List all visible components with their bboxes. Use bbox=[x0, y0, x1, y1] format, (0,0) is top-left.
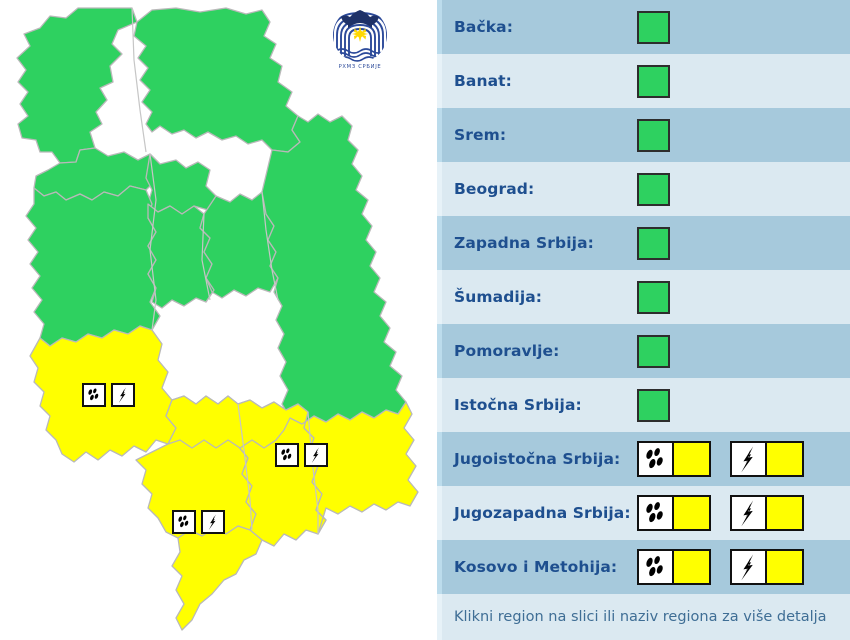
region-status bbox=[637, 324, 670, 378]
row-edge-strip bbox=[437, 0, 442, 54]
region-row[interactable]: Jugoistočna Srbija: bbox=[437, 432, 850, 486]
region-status bbox=[637, 0, 670, 54]
row-edge-strip bbox=[437, 432, 442, 486]
region-label[interactable]: Jugozapadna Srbija: bbox=[454, 504, 631, 522]
region-status bbox=[637, 486, 804, 540]
region-row[interactable]: Banat: bbox=[437, 54, 850, 108]
region-row[interactable]: Beograd: bbox=[437, 162, 850, 216]
region-status bbox=[637, 270, 670, 324]
warning-thunderstorm bbox=[730, 549, 804, 585]
status-box-green bbox=[637, 119, 670, 152]
row-edge-strip bbox=[437, 594, 442, 640]
region-row[interactable]: Istočna Srbija: bbox=[437, 378, 850, 432]
region-label[interactable]: Beograd: bbox=[454, 180, 534, 198]
region-row[interactable]: Šumadija: bbox=[437, 270, 850, 324]
row-edge-strip bbox=[437, 54, 442, 108]
map-region-istocna[interactable] bbox=[262, 114, 406, 424]
status-box-yellow bbox=[767, 443, 802, 475]
region-status bbox=[637, 108, 670, 162]
status-box-green bbox=[637, 65, 670, 98]
weather-warning-page: РХМЗ СРБИЈЕ bbox=[0, 0, 850, 638]
map-warning-jugoistocna-srbija[interactable] bbox=[275, 443, 328, 467]
region-status bbox=[637, 432, 804, 486]
row-edge-strip bbox=[437, 486, 442, 540]
row-edge-strip bbox=[437, 378, 442, 432]
rain-icon bbox=[639, 497, 674, 529]
region-row[interactable]: Srem: bbox=[437, 108, 850, 162]
row-edge-strip bbox=[437, 540, 442, 594]
status-box-green bbox=[637, 281, 670, 314]
region-row[interactable]: Jugozapadna Srbija: bbox=[437, 486, 850, 540]
map-region-backa[interactable] bbox=[17, 8, 137, 163]
status-box-yellow bbox=[674, 551, 709, 583]
region-status bbox=[637, 540, 804, 594]
region-label[interactable]: Kosovo i Metohija: bbox=[454, 558, 617, 576]
map-panel: РХМЗ СРБИЈЕ bbox=[0, 0, 430, 638]
region-label[interactable]: Banat: bbox=[454, 72, 512, 90]
map-region-kosovo-south[interactable] bbox=[172, 526, 262, 630]
map-warning-zapadna-srbija[interactable] bbox=[82, 383, 135, 407]
thunderstorm-icon bbox=[732, 443, 767, 475]
region-label[interactable]: Zapadna Srbija: bbox=[454, 234, 594, 252]
thunderstorm-icon bbox=[111, 383, 135, 407]
status-box-green bbox=[637, 227, 670, 260]
warning-rain bbox=[637, 441, 711, 477]
region-row[interactable]: Kosovo i Metohija: bbox=[437, 540, 850, 594]
serbia-map[interactable] bbox=[0, 0, 430, 638]
region-rows: Bačka:Banat:Srem:Beograd:Zapadna Srbija:… bbox=[437, 0, 850, 638]
status-box-green bbox=[637, 173, 670, 206]
status-box-green bbox=[637, 335, 670, 368]
region-status bbox=[637, 378, 670, 432]
rain-icon bbox=[639, 551, 674, 583]
map-region-beograd[interactable] bbox=[146, 154, 216, 214]
map-warning-jugozapadna-srbija[interactable] bbox=[172, 510, 225, 534]
rain-icon bbox=[172, 510, 196, 534]
rain-icon bbox=[82, 383, 106, 407]
footer-hint-text: Klikni region na slici ili naziv regiona… bbox=[454, 609, 827, 625]
status-box-green bbox=[637, 389, 670, 422]
warning-thunderstorm bbox=[730, 495, 804, 531]
status-box-yellow bbox=[767, 551, 802, 583]
region-row[interactable]: Pomoravlje: bbox=[437, 324, 850, 378]
list-footer: Klikni region na slici ili naziv regiona… bbox=[437, 594, 850, 640]
thunderstorm-icon bbox=[304, 443, 328, 467]
region-label[interactable]: Jugoistočna Srbija: bbox=[454, 450, 620, 468]
region-row[interactable]: Zapadna Srbija: bbox=[437, 216, 850, 270]
region-status bbox=[637, 54, 670, 108]
status-box-yellow bbox=[767, 497, 802, 529]
row-edge-strip bbox=[437, 270, 442, 324]
region-label[interactable]: Pomoravlje: bbox=[454, 342, 559, 360]
row-edge-strip bbox=[437, 162, 442, 216]
region-list-panel: Bačka:Banat:Srem:Beograd:Zapadna Srbija:… bbox=[430, 0, 850, 638]
row-edge-strip bbox=[437, 108, 442, 162]
status-box-yellow bbox=[674, 497, 709, 529]
row-edge-strip bbox=[437, 324, 442, 378]
warning-rain bbox=[637, 549, 711, 585]
region-label[interactable]: Srem: bbox=[454, 126, 506, 144]
thunderstorm-icon bbox=[201, 510, 225, 534]
logo-caption: РХМЗ СРБИЈЕ bbox=[339, 64, 382, 70]
region-row[interactable]: Bačka: bbox=[437, 0, 850, 54]
region-status bbox=[637, 216, 670, 270]
region-label[interactable]: Istočna Srbija: bbox=[454, 396, 582, 414]
region-status bbox=[637, 162, 670, 216]
thunderstorm-icon bbox=[732, 551, 767, 583]
map-region-zapadna-upper[interactable] bbox=[26, 186, 160, 346]
region-label[interactable]: Bačka: bbox=[454, 18, 513, 36]
map-region-banat[interactable] bbox=[134, 8, 300, 152]
thunderstorm-icon bbox=[732, 497, 767, 529]
status-box-green bbox=[637, 11, 670, 44]
region-label[interactable]: Šumadija: bbox=[454, 288, 542, 306]
warning-thunderstorm bbox=[730, 441, 804, 477]
rain-icon bbox=[275, 443, 299, 467]
rain-icon bbox=[639, 443, 674, 475]
rhmz-srbija-logo: РХМЗ СРБИЈЕ bbox=[326, 4, 394, 72]
status-box-yellow bbox=[674, 443, 709, 475]
warning-rain bbox=[637, 495, 711, 531]
row-edge-strip bbox=[437, 216, 442, 270]
